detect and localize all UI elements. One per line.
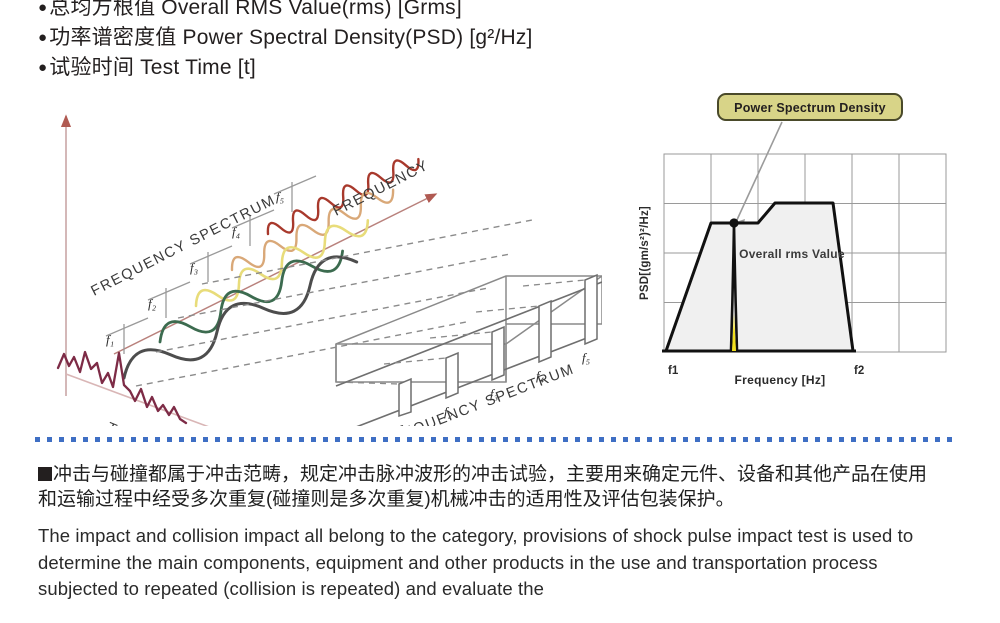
psd-callout: Power Spectrum Density [718,94,902,120]
bullet-dot-icon: ● [38,0,47,15]
label-frequency-axis: FREQUENCY [331,157,432,219]
psd-marker-point [729,218,738,227]
bullet-dot-icon: ● [38,60,47,75]
psd-xtick-f2: f2 [854,365,864,377]
bullet-label-rms: 总均方根值 Overall RMS Value(rms) [Grms] [49,0,462,21]
bullet-label-psd: 功率谱密度值 Power Spectral Density(PSD) [g²/H… [49,21,532,51]
psd-y-axis-label: PSD[(gm/s²)²/Hz] [639,206,651,300]
waterfall-svg: f₁ f₂ f₃ f₄ f₅ f₁ f [36,86,602,426]
bullet-item-test-time: ● 试验时间 Test Time [t] [38,51,978,81]
psd-x-axis-label: Frequency [Hz] [735,373,826,387]
bullet-label-test-time: 试验时间 Test Time [t] [49,51,256,81]
time-axis [66,374,336,426]
bullet-item-psd: ● 功率谱密度值 Power Spectral Density(PSD) [g²… [38,21,978,51]
psd-chart-svg: Power Spectrum Density [632,86,966,416]
psd-envelope [662,203,856,351]
psd-chart: Power Spectrum Density [632,86,966,416]
chinese-paragraph-text: 冲击与碰撞都属于冲击范畴，规定冲击脉冲波形的冲击试验，主要用来确定元件、设备和其… [38,464,927,510]
psd-callout-label: Power Spectrum Density [734,101,886,115]
waterfall-diagram: f₁ f₂ f₃ f₄ f₅ f₁ f [36,86,602,426]
psd-xtick-f1: f1 [668,365,679,377]
body-copy: 冲击与碰撞都属于冲击范畴，规定冲击脉冲波形的冲击试验，主要用来确定元件、设备和其… [38,462,938,603]
psd-inner-label: Overall rms Value [739,247,845,261]
section-divider [35,437,955,442]
bullet-dot-icon: ● [38,30,47,45]
spec-bullet-list: ● 总均方根值 Overall RMS Value(rms) [Grms] ● … [38,0,978,81]
figure-area: f₁ f₂ f₃ f₄ f₅ f₁ f [36,86,966,426]
time-signal-trace [58,352,186,423]
english-paragraph: The impact and collision impact all belo… [38,523,938,603]
bullet-item-rms: ● 总均方根值 Overall RMS Value(rms) [Grms] [38,0,978,21]
bar-label-f5: f₅ [582,350,590,365]
square-marker-icon [38,467,52,481]
chinese-paragraph: 冲击与碰撞都属于冲击范畴，规定冲击脉冲波形的冲击试验，主要用来确定元件、设备和其… [38,462,938,512]
